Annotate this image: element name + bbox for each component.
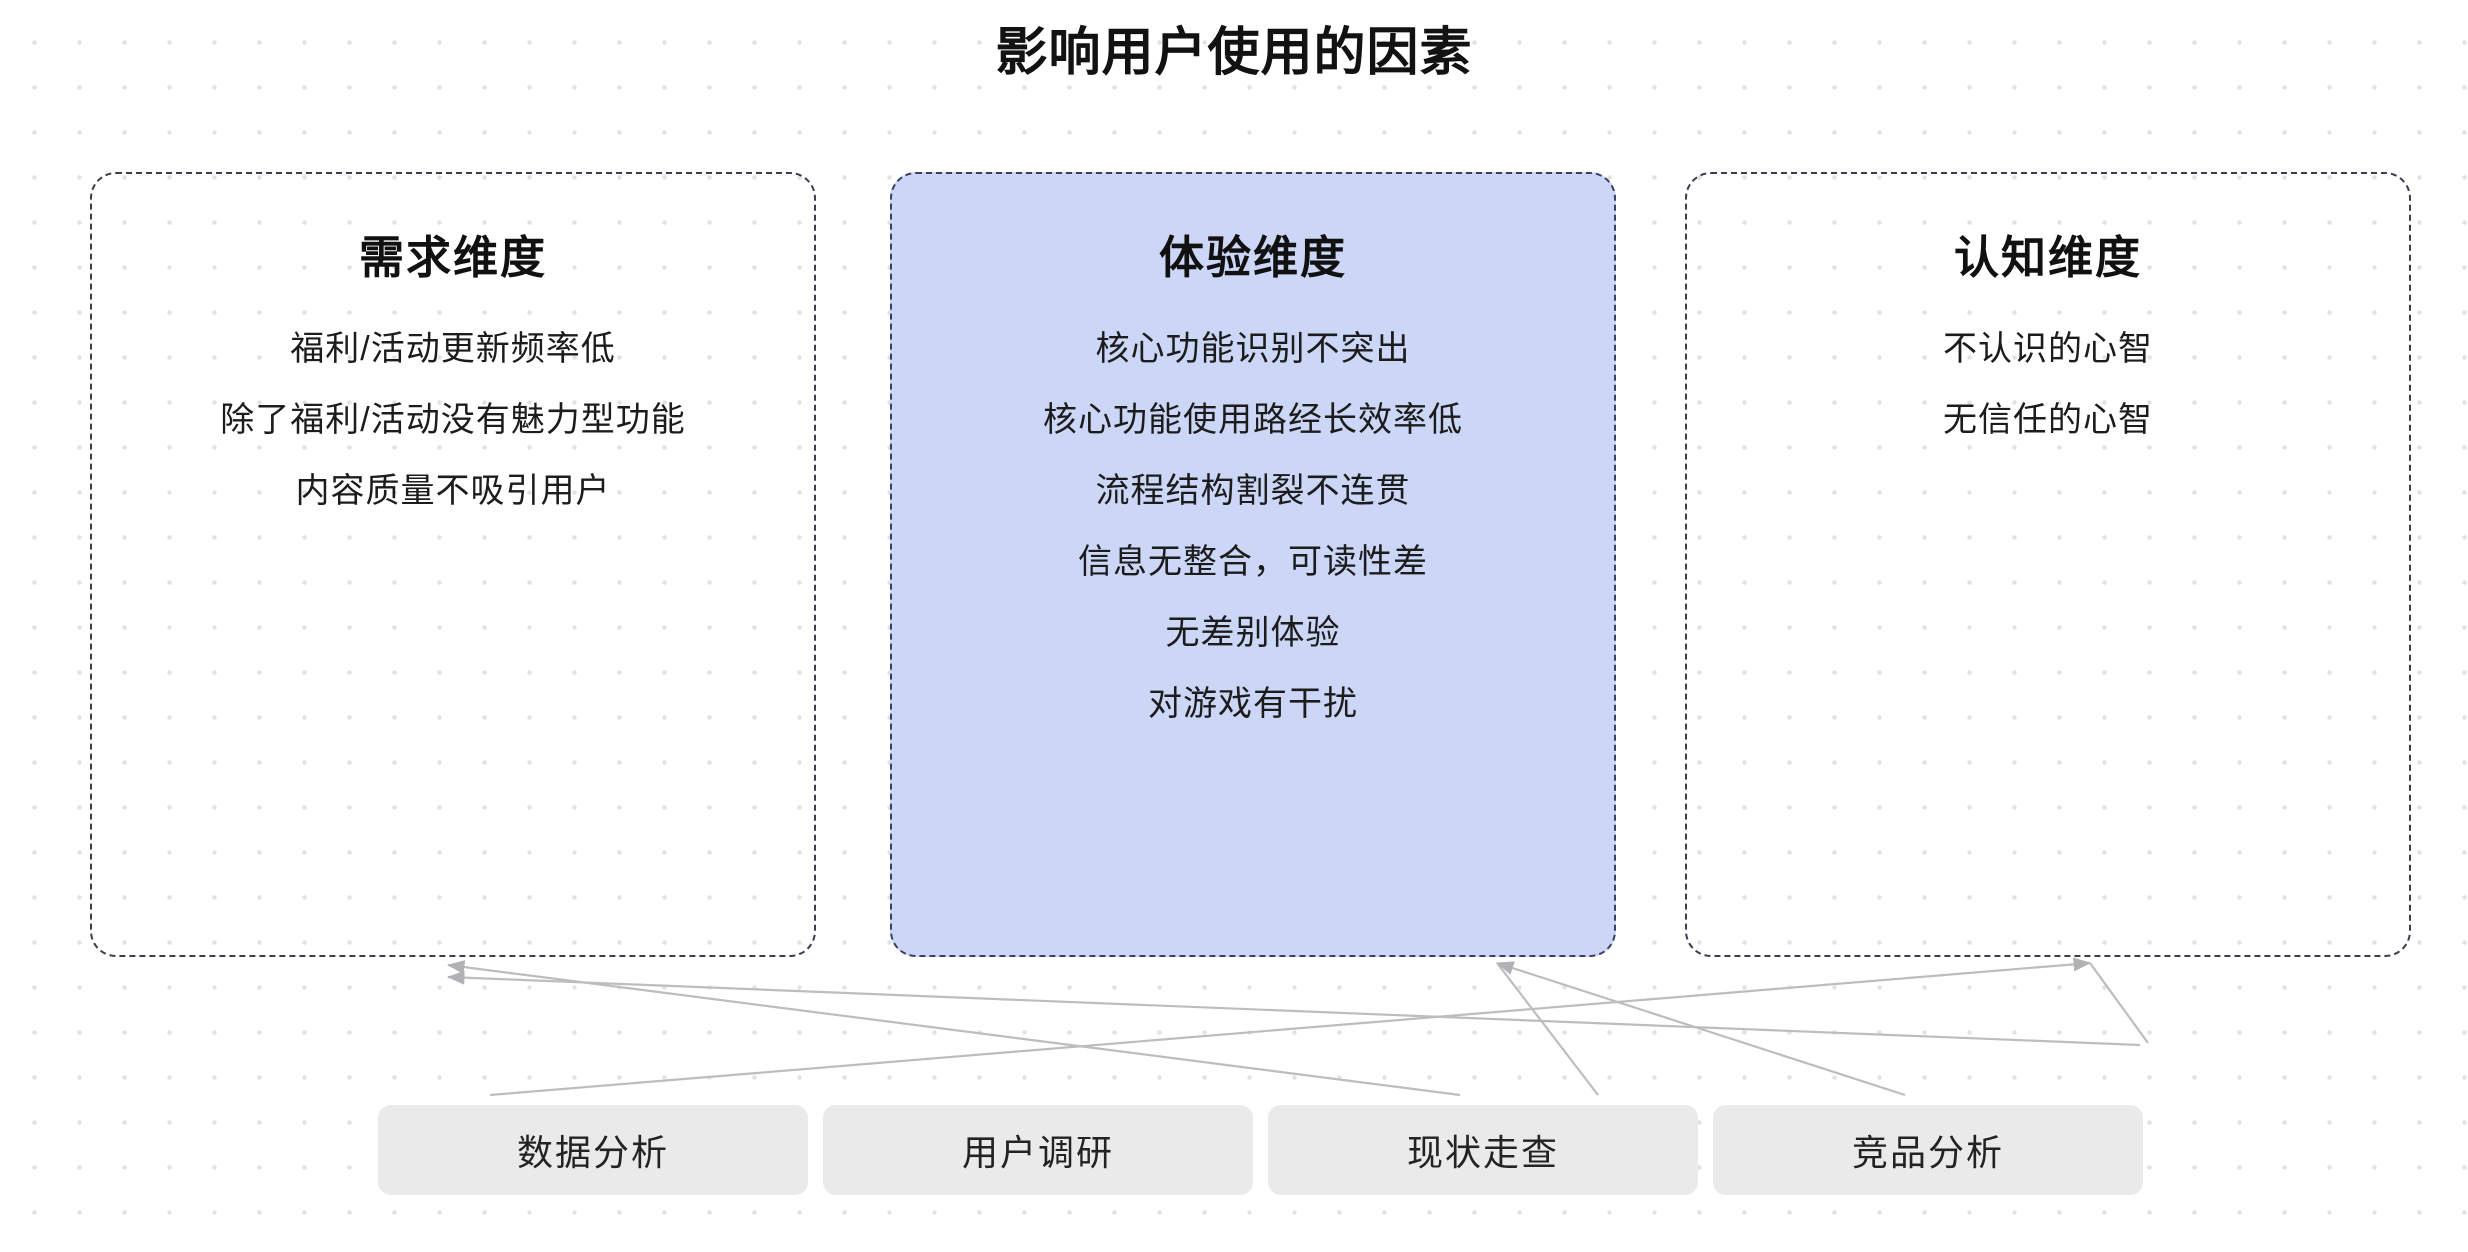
dimension-card-experience[interactable]: 体验维度 核心功能识别不突出 核心功能使用路经长效率低 流程结构割裂不连贯 信息… [890, 172, 1616, 957]
dimension-title: 认知维度 [1954, 232, 2142, 284]
dimension-item: 不认识的心智 [1943, 330, 2153, 369]
method-pill-row: 数据分析 用户调研 现状走查 竞品分析 [378, 1105, 2143, 1195]
dimension-item: 核心功能识别不突出 [1096, 330, 1411, 369]
connector-competitor-to-experience [1497, 963, 1905, 1095]
connector-extra-tail [2090, 963, 2148, 1043]
method-pill-data-analysis[interactable]: 数据分析 [378, 1105, 808, 1195]
dimension-item: 信息无整合，可读性差 [1078, 543, 1428, 582]
dimension-item: 对游戏有干扰 [1148, 685, 1358, 724]
connector-user-research-to-demand [448, 977, 2140, 1045]
dimension-item-list: 核心功能识别不突出 核心功能使用路经长效率低 流程结构割裂不连贯 信息无整合，可… [892, 330, 1614, 757]
dimension-title: 需求维度 [359, 232, 547, 284]
dimension-item: 无信任的心智 [1943, 401, 2153, 440]
method-pill-status-review[interactable]: 现状走查 [1268, 1105, 1698, 1195]
dimension-title: 体验维度 [1159, 232, 1347, 284]
dimension-item: 核心功能使用路经长效率低 [1043, 401, 1463, 440]
dimension-item: 福利/活动更新频率低 [290, 330, 615, 369]
dimension-card-demand[interactable]: 需求维度 福利/活动更新频率低 除了福利/活动没有魅力型功能 内容质量不吸引用户 [90, 172, 816, 957]
page-title: 影响用户使用的因素 [0, 22, 2468, 84]
method-pill-user-research[interactable]: 用户调研 [823, 1105, 1253, 1195]
dimension-card-cognition[interactable]: 认知维度 不认识的心智 无信任的心智 [1685, 172, 2411, 957]
dimension-item: 内容质量不吸引用户 [296, 472, 611, 511]
dimension-item-list: 福利/活动更新频率低 除了福利/活动没有魅力型功能 内容质量不吸引用户 [92, 330, 814, 543]
dimension-item: 除了福利/活动没有魅力型功能 [220, 401, 685, 440]
connector-data-analysis-to-cognition [490, 963, 2090, 1095]
method-pill-competitor-analysis[interactable]: 竞品分析 [1713, 1105, 2143, 1195]
dimension-item: 流程结构割裂不连贯 [1096, 472, 1411, 511]
connector-status-review-to-demand [448, 965, 1460, 1095]
dimension-item: 无差别体验 [1166, 614, 1341, 653]
connector-competitor-tail [1497, 963, 1598, 1095]
dimension-item-list: 不认识的心智 无信任的心智 [1687, 330, 2409, 472]
